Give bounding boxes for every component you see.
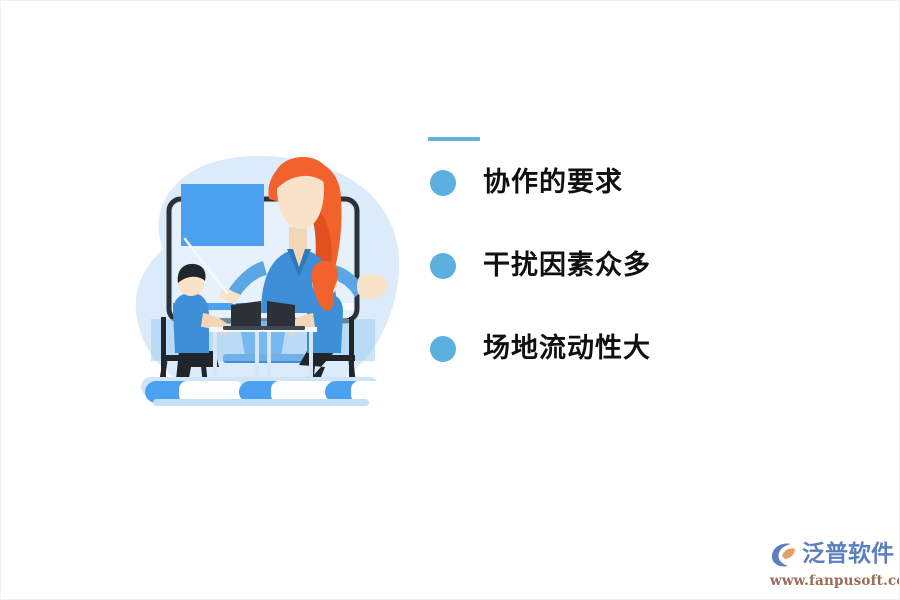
screen-slide-panel [181,184,264,246]
laptop-right-screen [267,301,295,327]
slide-canvas: 协作的要求 干扰因素众多 场地流动性大 泛普软件 www.fanpusoft.c… [0,0,900,600]
bullet-item-3: 场地流动性大 [430,307,848,390]
fanpu-logo-icon [769,539,799,569]
laptop-left-base [223,326,265,330]
book-bottom-shadow [153,399,369,406]
bullet-dot-icon [430,253,456,279]
brand-logo: 泛普软件 www.fanpusoft.com [769,537,891,589]
bullet-dot-icon [430,170,456,196]
laptop-left-screen [231,301,261,327]
bullet-item-2: 干扰因素众多 [430,224,848,307]
bullet-dot-icon [430,336,456,362]
bullet-label-3: 场地流动性大 [483,335,651,362]
bullet-label-1: 协作的要求 [483,169,623,196]
brand-logo-row: 泛普软件 [769,537,891,571]
bullet-label-2: 干扰因素众多 [483,252,651,279]
brand-name: 泛普软件 [802,543,894,566]
laptop-right-base [263,326,305,330]
online-classroom-illustration [111,141,411,416]
logo-swoosh-accent [782,548,795,559]
bullet-list-panel: 协作的要求 干扰因素众多 场地流动性大 [428,131,848,390]
brand-url: www.fanpusoft.com [770,573,891,589]
bullet-item-1: 协作的要求 [430,141,848,224]
book-stack [141,377,383,406]
